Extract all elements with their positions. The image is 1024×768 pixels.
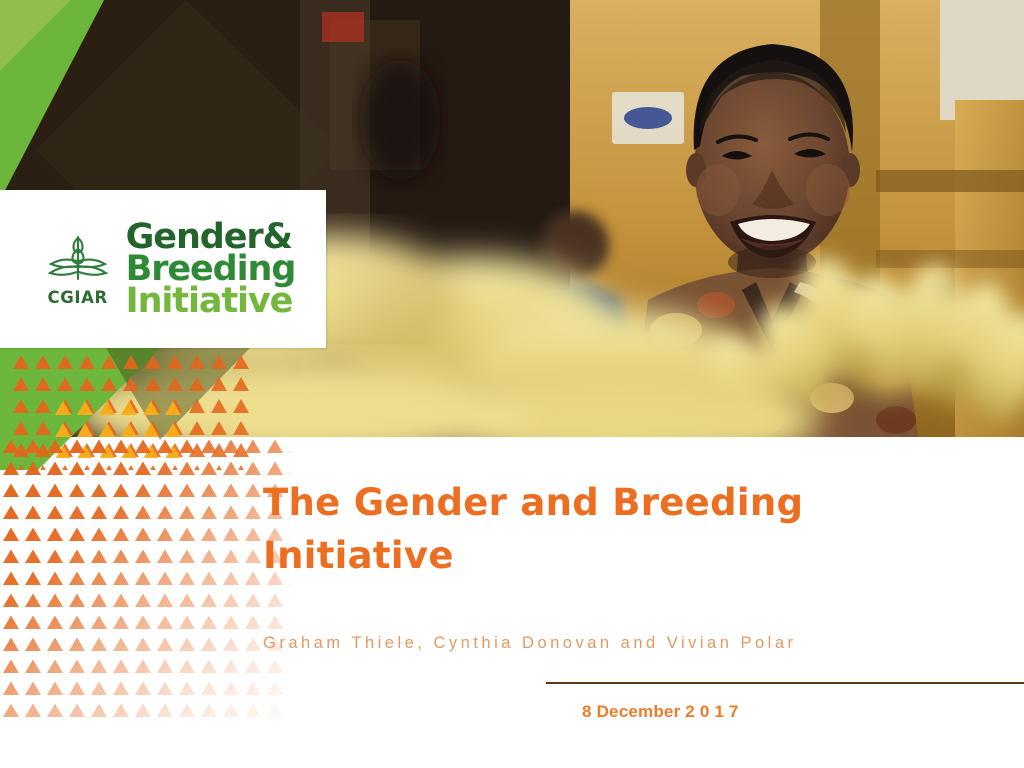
cgiar-wheat-icon <box>47 231 109 287</box>
slide-date: 8 December 2 0 1 7 <box>582 702 739 722</box>
cgiar-wordmark: CGIAR <box>48 288 108 307</box>
cgiar-emblem: CGIAR <box>39 231 117 307</box>
slide-authors: Graham Thiele, Cynthia Donovan and Vivia… <box>263 634 797 653</box>
gbi-line-3: Initiative <box>126 285 296 317</box>
triangle-pattern-decoration <box>0 436 300 726</box>
gbi-logo-box: CGIAR Gender& Breeding Initiative <box>0 190 326 348</box>
title-slide: CGIAR Gender& Breeding Initiative The Ge… <box>0 0 1024 768</box>
gbi-wordmark: Gender& Breeding Initiative <box>126 221 296 318</box>
date-divider-rule <box>546 682 1024 684</box>
slide-title: The Gender and Breeding Initiative <box>263 477 883 582</box>
